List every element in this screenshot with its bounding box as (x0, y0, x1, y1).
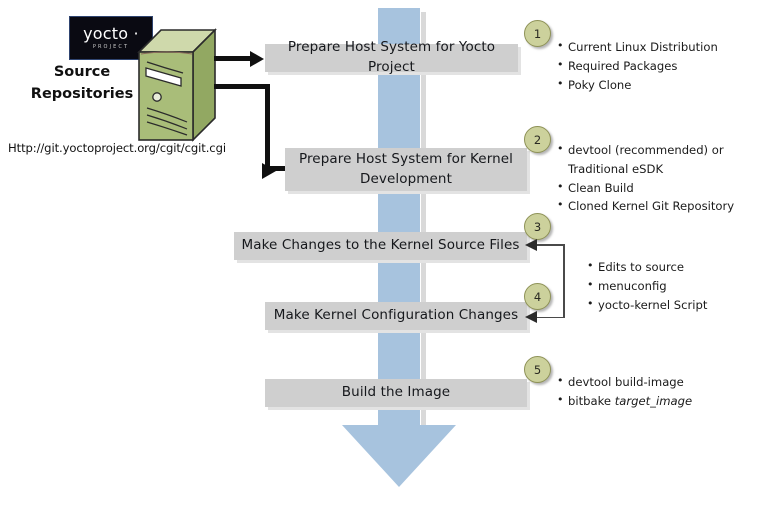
step-5-bullet-2-text: bitbake (568, 394, 615, 408)
connector-feedback-vertical (563, 244, 565, 318)
step-3-number: 3 (524, 213, 551, 240)
source-repositories-label: Source Repositories (18, 62, 146, 106)
source-repositories-url: Http://git.yoctoproject.org/cgit/cgit.cg… (8, 141, 226, 155)
list-item: bitbake target_image (568, 392, 755, 411)
step-2-box[interactable]: Prepare Host System for Kernel Developme… (285, 148, 527, 191)
list-item: Required Packages (568, 57, 760, 76)
arrowhead-step4-feedback (525, 311, 537, 323)
step-1-bullets: Current Linux Distribution Required Pack… (555, 38, 760, 94)
source-label-line2: Repositories (18, 84, 146, 106)
step-1-box[interactable]: Prepare Host System for Yocto Project (265, 44, 518, 72)
connector-server-to-step2-v (265, 84, 270, 171)
list-item: Edits to source (598, 258, 765, 277)
connector-server-to-step2-h1 (214, 84, 270, 89)
step-5-box[interactable]: Build the Image (265, 379, 527, 407)
arrowhead-step3-feedback (525, 239, 537, 251)
step-3-number-text: 3 (534, 220, 541, 234)
step-5-bullets: devtool build-image bitbake target_image (555, 373, 755, 411)
step-1-number-text: 1 (534, 27, 541, 41)
list-item: Current Linux Distribution (568, 38, 760, 57)
step-5-bullet-1-text: devtool build-image (568, 375, 684, 389)
step-2-label-line1: Prepare Host System for Kernel (299, 150, 513, 170)
list-item: Poky Clone (568, 76, 760, 95)
list-item: devtool build-image (568, 373, 755, 392)
arrowhead-step2 (262, 163, 276, 179)
connector-server-to-step1 (214, 56, 254, 61)
connector-feedback-bottom (536, 317, 564, 319)
step-3-label: Make Changes to the Kernel Source Files (241, 236, 519, 256)
steps-3-4-bullets: Edits to source menuconfig yocto-kernel … (585, 258, 765, 314)
list-item: devtool (recommended) or Traditional eSD… (568, 141, 755, 179)
list-item: Clean Build (568, 179, 755, 198)
flow-arrow-head (342, 425, 456, 487)
arrowhead-step1 (250, 51, 264, 67)
yocto-logo-wordmark: yocto · (83, 26, 139, 42)
list-item: yocto-kernel Script (598, 296, 765, 315)
step-3-box[interactable]: Make Changes to the Kernel Source Files (234, 232, 527, 260)
step-2-label-line2: Development (360, 170, 452, 190)
step-4-box[interactable]: Make Kernel Configuration Changes (265, 302, 527, 330)
yocto-logo-subtext: PROJECT (93, 45, 129, 50)
source-label-line1: Source (18, 62, 146, 84)
step-4-number: 4 (524, 283, 551, 310)
step-5-number-text: 5 (534, 363, 541, 377)
step-1-number: 1 (524, 20, 551, 47)
step-2-number: 2 (524, 126, 551, 153)
step-5-label: Build the Image (342, 383, 450, 403)
list-item: menuconfig (598, 277, 765, 296)
step-5-bullet-2-italic: target_image (615, 394, 692, 408)
connector-feedback-top (536, 244, 564, 246)
diagram-canvas: yocto · PROJECT Source Repositories Http… (0, 0, 769, 517)
step-5-number: 5 (524, 356, 551, 383)
step-4-number-text: 4 (534, 290, 541, 304)
step-2-bullets: devtool (recommended) or Traditional eSD… (555, 141, 755, 216)
list-item: Cloned Kernel Git Repository (568, 197, 755, 216)
step-1-label: Prepare Host System for Yocto Project (265, 38, 518, 77)
step-4-label: Make Kernel Configuration Changes (274, 306, 518, 326)
step-2-number-text: 2 (534, 133, 541, 147)
server-tower-icon (137, 28, 217, 143)
